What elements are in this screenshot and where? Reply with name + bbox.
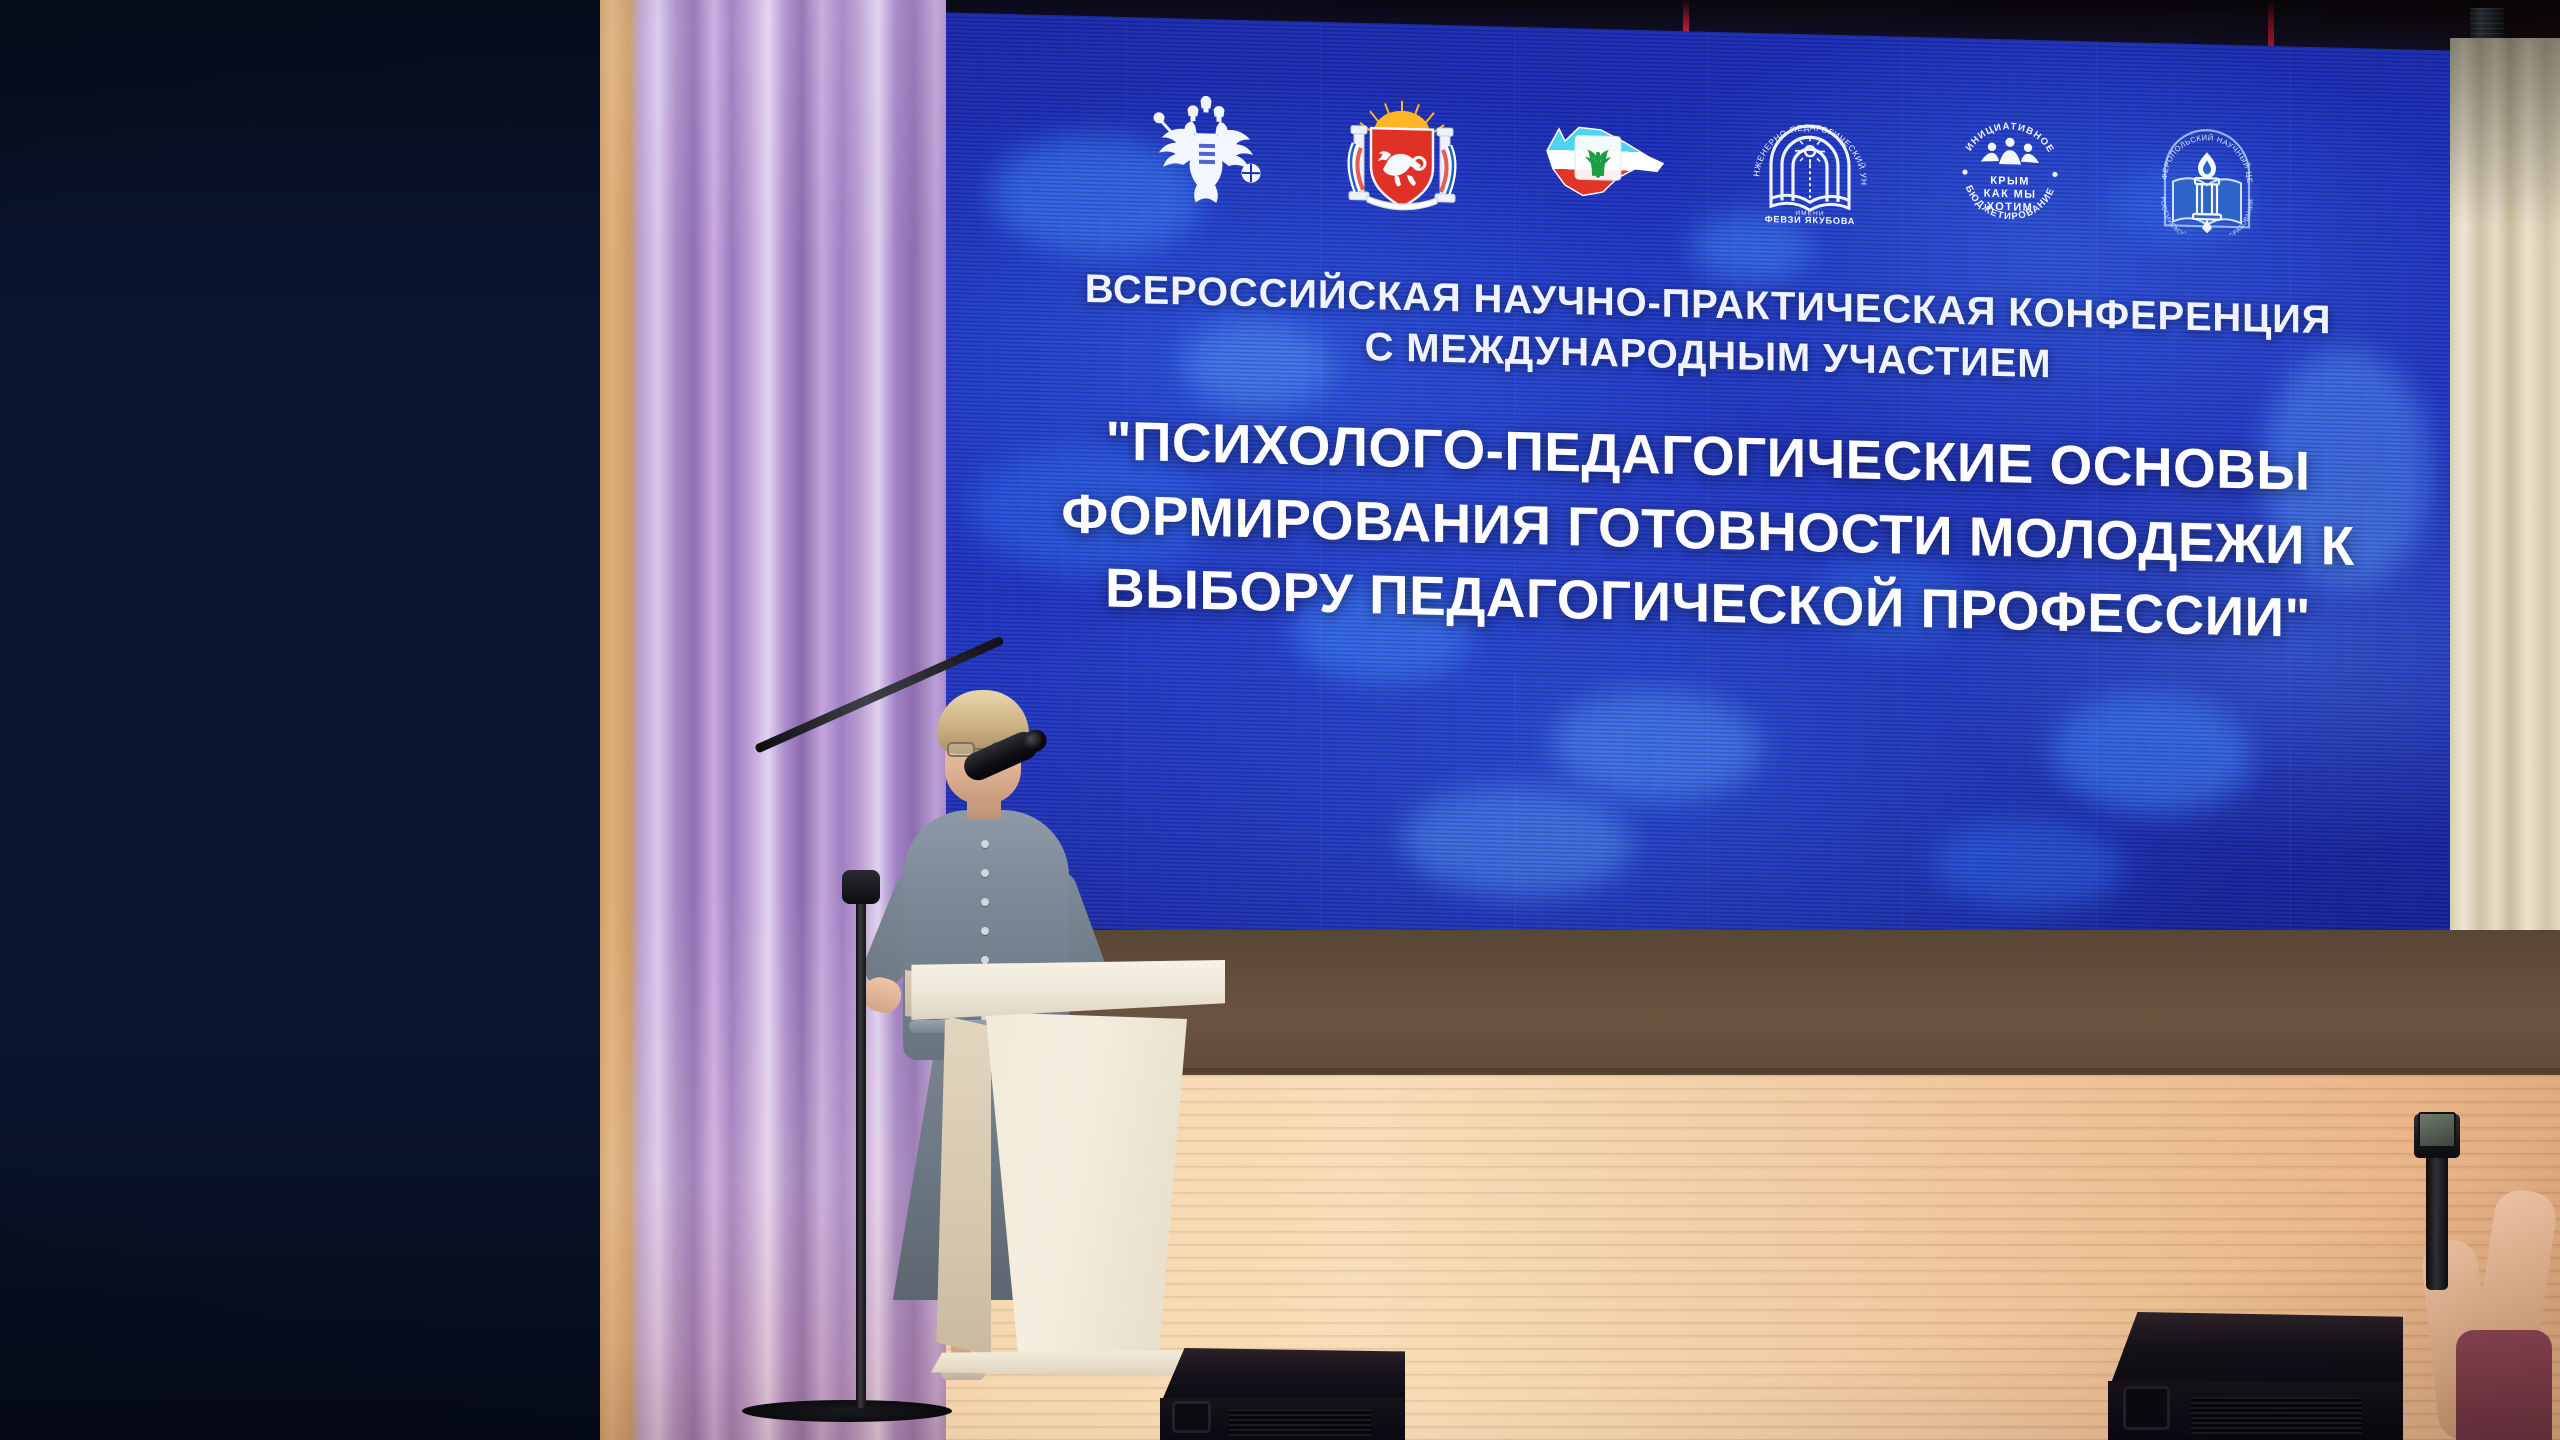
svg-text:ХОТИМ: ХОТИМ [1987,201,2033,214]
conference-title-block: ВСЕРОССИЙСКАЯ НАУЧНО-ПРАКТИЧЕСКАЯ КОНФЕР… [932,260,2484,658]
crimean-engineering-pedagogical-university-logo: КРЫМСКИЙ ИНЖЕНЕРНО-ПЕДАГОГИЧЕСКИЙ УНИВЕР… [1745,106,1875,225]
svg-text:КРЫМ: КРЫМ [1990,175,2030,188]
logo-row: КРЫМСКИЙ ИНЖЕНЕРНО-ПЕДАГОГИЧЕСКИЙ УНИВЕР… [932,84,2484,241]
microphone-stand-base [742,1400,952,1422]
lectern-side-panel [929,1016,991,1356]
lectern [905,960,1225,1380]
monitor-top-face [2108,1312,2403,1391]
stage-monitor-speaker [1160,1348,1405,1440]
svg-text:ФЕВЗИ ЯКУБОВА: ФЕВЗИ ЯКУБОВА [1765,214,1856,225]
navy-stage-curtain [0,0,600,1440]
conference-stage-photo: КРЫМСКИЙ ИНЖЕНЕРНО-ПЕДАГОГИЧЕСКИЙ УНИВЕР… [0,0,2560,1440]
initiative-budgeting-logo: ИНИЦИАТИВНОЕ БЮДЖЕТИРОВАНИЕ [1951,113,2069,228]
republic-of-crimea-coat-of-arms [1341,97,1463,212]
lectern-top-surface [905,960,1225,1020]
monitor-handle [1172,1401,1211,1432]
stage-monitor-speaker [2108,1312,2403,1440]
simferopol-scientific-center-rao-logo: СИМФЕРОПОЛЬСКИЙ НАУЧНЫЙ ЦЕНТР [2145,115,2269,236]
crimea-map-emblem [1539,110,1669,209]
monitor-grille [2191,1397,2362,1435]
gimbal-handle [2426,1140,2448,1290]
monitor-grille [1229,1409,1371,1437]
svg-text:КАК МЫ: КАК МЫ [1984,188,2037,201]
svg-text:ИНИЦИАТИВНОЕ: ИНИЦИАТИВНОЕ [1964,120,2056,155]
led-video-wall: КРЫМСКИЙ ИНЖЕНЕРНО-ПЕДАГОГИЧЕСКИЙ УНИВЕР… [932,12,2484,1026]
microphone-boom-clamp [842,870,880,904]
operator-sleeve [2456,1330,2552,1440]
smartphone-camera-icon [2418,1112,2456,1148]
microphone-stand-pole [856,888,866,1408]
camera-operator-hands-with-gimbal [2380,1110,2560,1440]
monitor-handle [2123,1386,2170,1430]
monitor-top-face [1160,1348,1405,1405]
russian-federation-eagle-emblem [1147,92,1265,207]
